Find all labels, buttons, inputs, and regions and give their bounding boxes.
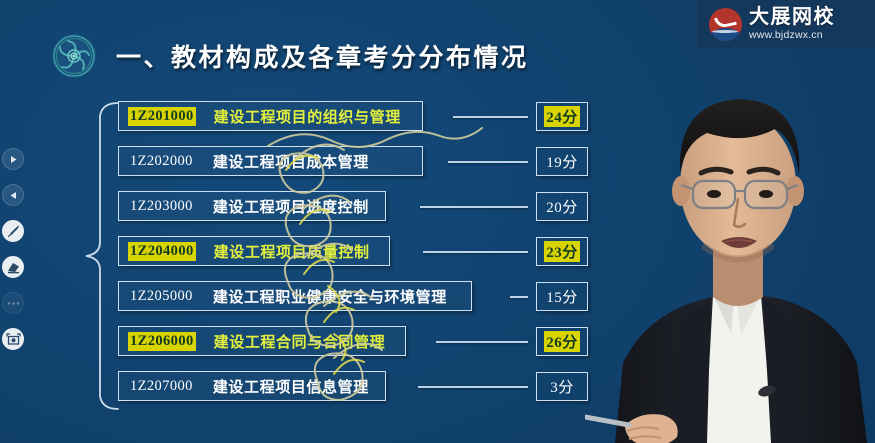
chapter-name: 建设工程合同与合同管理 (214, 331, 386, 352)
brand-url: www.bjdzwx.cn (749, 30, 835, 41)
score-box[interactable]: 23分 (536, 237, 588, 266)
chapter-box[interactable]: 1Z204000 建设工程项目质量控制 (118, 236, 390, 266)
chapter-name: 建设工程职业健康安全与环境管理 (213, 286, 447, 307)
chapter-name: 建设工程项目质量控制 (214, 241, 370, 262)
chapter-box[interactable]: 1Z206000 建设工程合同与合同管理 (118, 326, 406, 356)
score-value: 24分 (544, 106, 580, 127)
table-row[interactable]: 1Z207000 建设工程项目信息管理 3分 (118, 370, 588, 402)
score-value: 15分 (544, 286, 580, 307)
chapter-box[interactable]: 1Z207000 建设工程项目信息管理 (118, 371, 386, 401)
chapter-code: 1Z205000 (128, 287, 195, 306)
brand-logo[interactable]: 大展网校 www.bjdzwx.cn (697, 0, 875, 48)
chapter-box[interactable]: 1Z202000 建设工程项目成本管理 (118, 146, 423, 176)
chapter-code: 1Z202000 (128, 152, 195, 171)
slide-stage: 大展网校 www.bjdzwx.cn 一、教材构成及各章考分分布情 (0, 0, 875, 443)
chapter-name: 建设工程项目信息管理 (213, 376, 369, 397)
score-value: 26分 (544, 331, 580, 352)
chapter-name: 建设工程项目进度控制 (213, 196, 369, 217)
table-row[interactable]: 1Z204000 建设工程项目质量控制 23分 (118, 235, 588, 267)
table-row[interactable]: 1Z202000 建设工程项目成本管理 19分 (118, 145, 588, 177)
play-forward-icon[interactable] (2, 148, 24, 170)
chapter-code: 1Z206000 (128, 332, 196, 351)
chapter-box[interactable]: 1Z205000 建设工程职业健康安全与环境管理 (118, 281, 472, 311)
score-box[interactable]: 20分 (536, 192, 588, 221)
chapter-name: 建设工程项目的组织与管理 (214, 106, 401, 127)
score-box[interactable]: 19分 (536, 147, 588, 176)
chapter-code: 1Z203000 (128, 197, 195, 216)
table-row[interactable]: 1Z201000 建设工程项目的组织与管理 24分 (118, 100, 588, 132)
table-row[interactable]: 1Z205000 建设工程职业健康安全与环境管理 15分 (118, 280, 588, 312)
table-row[interactable]: 1Z206000 建设工程合同与合同管理 26分 (118, 325, 588, 357)
chapter-box[interactable]: 1Z201000 建设工程项目的组织与管理 (118, 101, 423, 131)
spiral-emblem-icon (52, 34, 96, 78)
score-box[interactable]: 3分 (536, 372, 588, 401)
presenter-video (585, 33, 875, 443)
brand-text: 大展网校 www.bjdzwx.cn (749, 7, 835, 41)
score-value: 3分 (548, 376, 576, 397)
chapter-code: 1Z204000 (128, 242, 196, 261)
chapter-name: 建设工程项目成本管理 (213, 151, 369, 172)
pen-annotate-icon[interactable] (2, 220, 24, 242)
score-box[interactable]: 26分 (536, 327, 588, 356)
score-value: 19分 (544, 151, 580, 172)
grouping-brace (72, 100, 120, 412)
score-box[interactable]: 24分 (536, 102, 588, 131)
slide-header: 一、教材构成及各章考分分布情况 (52, 34, 529, 78)
chapter-list: 1Z201000 建设工程项目的组织与管理 24分 1Z202000 建设工程项… (118, 100, 588, 402)
chapter-box[interactable]: 1Z203000 建设工程项目进度控制 (118, 191, 386, 221)
chapter-code: 1Z201000 (128, 107, 196, 126)
annotation-toolbar[interactable] (2, 148, 24, 350)
score-value: 23分 (544, 241, 580, 262)
play-back-icon[interactable] (2, 184, 24, 206)
more-options-icon[interactable] (2, 292, 24, 314)
table-row[interactable]: 1Z203000 建设工程项目进度控制 20分 (118, 190, 588, 222)
chapter-code: 1Z207000 (128, 377, 195, 396)
brand-name: 大展网校 (749, 7, 835, 27)
eraser-icon[interactable] (2, 256, 24, 278)
score-value: 20分 (544, 196, 580, 217)
screenshot-capture-icon[interactable] (2, 328, 24, 350)
page-title: 一、教材构成及各章考分分布情况 (116, 38, 529, 74)
score-box[interactable]: 15分 (536, 282, 588, 311)
wave-mountain-logo-icon (709, 8, 742, 41)
